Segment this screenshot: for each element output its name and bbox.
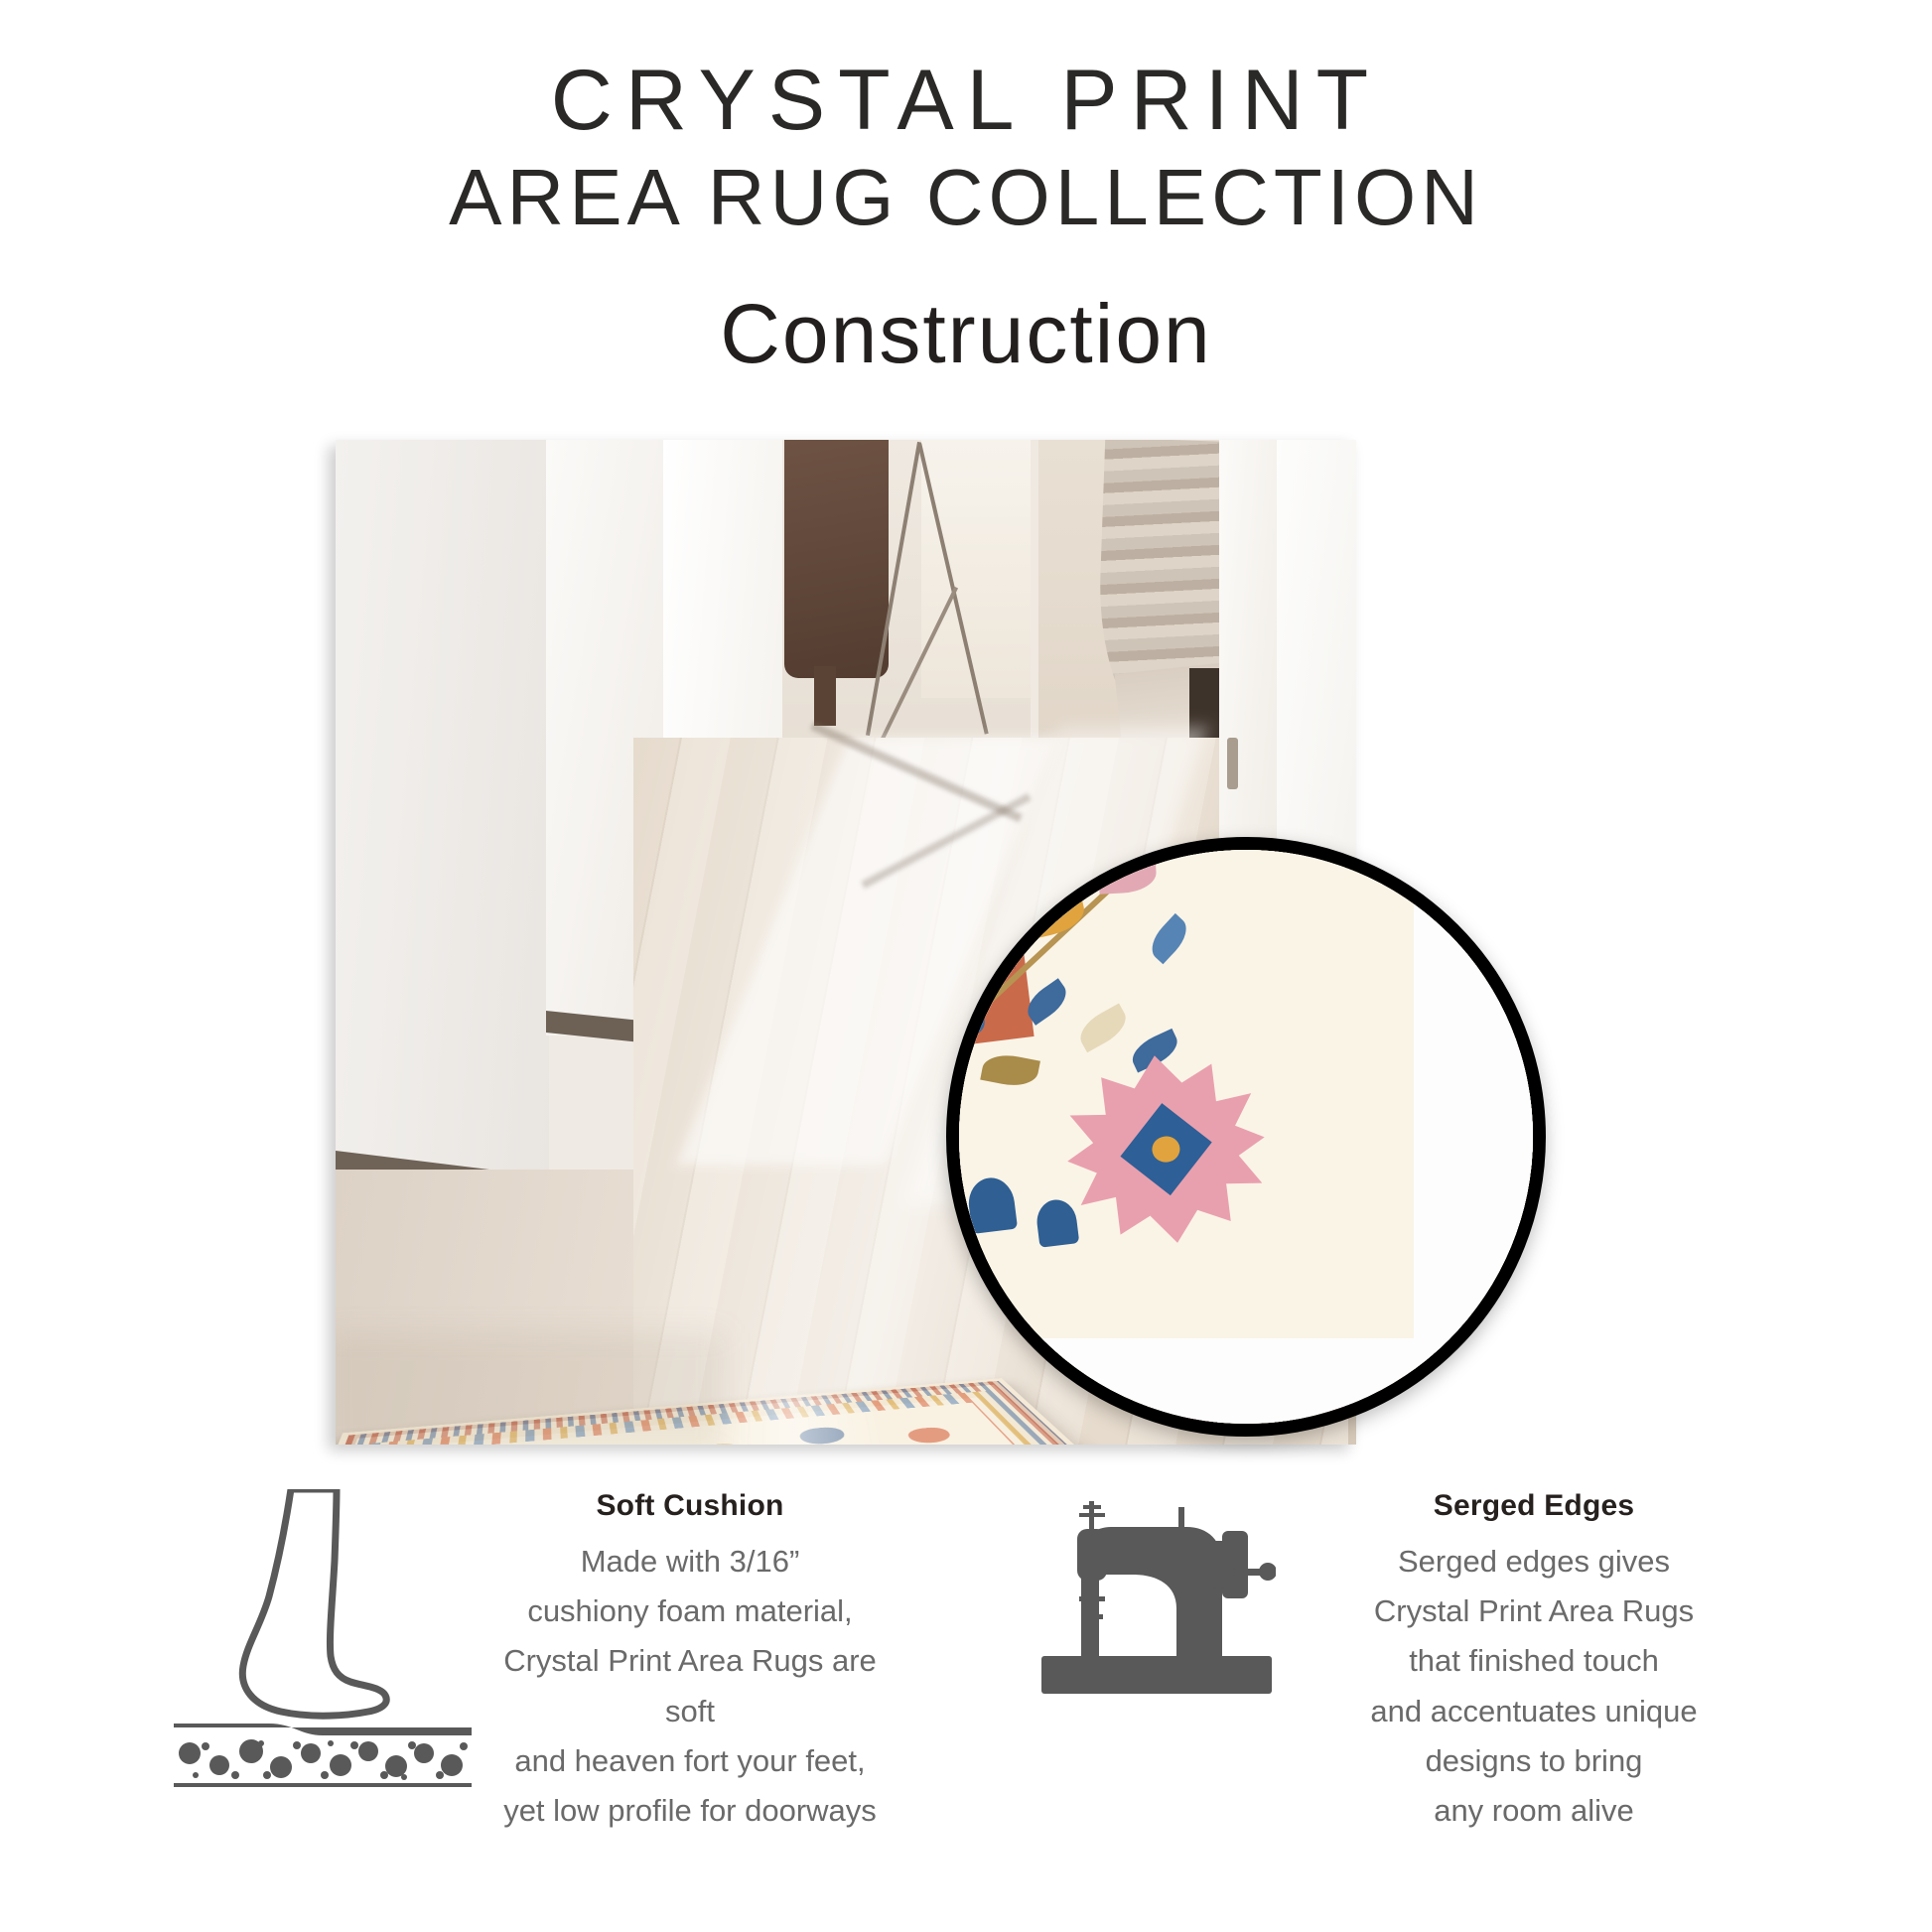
title-line-1: CRYSTAL PRINT	[0, 56, 1932, 145]
soft-cushion-body: Made with 3/16” cushiony foam material, …	[472, 1537, 908, 1836]
magnifier-detail-circle	[946, 837, 1546, 1437]
pink-medallion	[1056, 1043, 1277, 1255]
far-sofa	[784, 440, 889, 678]
serged-edges-body: Serged edges gives Crystal Print Area Ru…	[1276, 1537, 1792, 1836]
serged-edges-line-3: that finished touch	[1276, 1636, 1792, 1686]
rug-floor-shadow	[336, 1333, 723, 1445]
serged-edges-line-6: any room alive	[1276, 1786, 1792, 1836]
serged-edges-line-1: Serged edges gives	[1276, 1537, 1792, 1587]
page-title: CRYSTAL PRINT AREA RUG COLLECTION	[0, 56, 1932, 241]
soft-cushion-line-5: and heaven fort your feet,	[472, 1736, 908, 1786]
magnifier-white-area-bottom	[959, 1338, 1533, 1424]
soft-cushion-line-3: Crystal Print Area Rugs are	[472, 1636, 908, 1686]
left-wall	[336, 440, 549, 1194]
serged-edges-icon-cell	[1037, 1489, 1276, 1718]
soft-cushion-line-1: Made with 3/16”	[472, 1537, 908, 1587]
title-line-2: AREA RUG COLLECTION	[0, 155, 1932, 240]
soft-cushion-line-4: soft	[472, 1687, 908, 1736]
infographic-page: CRYSTAL PRINT AREA RUG COLLECTION Constr…	[0, 0, 1932, 1932]
serged-edges-text: Serged Edges Serged edges gives Crystal …	[1276, 1489, 1792, 1836]
soft-cushion-line-6: yet low profile for doorways	[472, 1786, 908, 1836]
soft-cushion-icon-cell	[174, 1489, 472, 1787]
magnifier-content	[959, 850, 1533, 1424]
soft-cushion-title: Soft Cushion	[472, 1489, 908, 1523]
sewing-machine-icon	[1037, 1489, 1276, 1718]
sofa-leg	[814, 666, 836, 726]
foot-on-foam-icon	[174, 1489, 472, 1787]
serged-edges-line-5: designs to bring	[1276, 1736, 1792, 1786]
serged-edges-line-2: Crystal Print Area Rugs	[1276, 1587, 1792, 1636]
door-handle	[1227, 738, 1238, 789]
feature-soft-cushion: Soft Cushion Made with 3/16” cushiony fo…	[174, 1489, 908, 1836]
feature-serged-edges: Serged Edges Serged edges gives Crystal …	[1037, 1489, 1792, 1836]
serged-edges-line-4: and accentuates unique	[1276, 1687, 1792, 1736]
soft-cushion-text: Soft Cushion Made with 3/16” cushiony fo…	[472, 1489, 908, 1836]
serged-edges-title: Serged Edges	[1276, 1489, 1792, 1523]
page-subtitle: Construction	[0, 286, 1932, 382]
soft-cushion-line-2: cushiony foam material,	[472, 1587, 908, 1636]
far-wall-panel	[921, 440, 1040, 698]
